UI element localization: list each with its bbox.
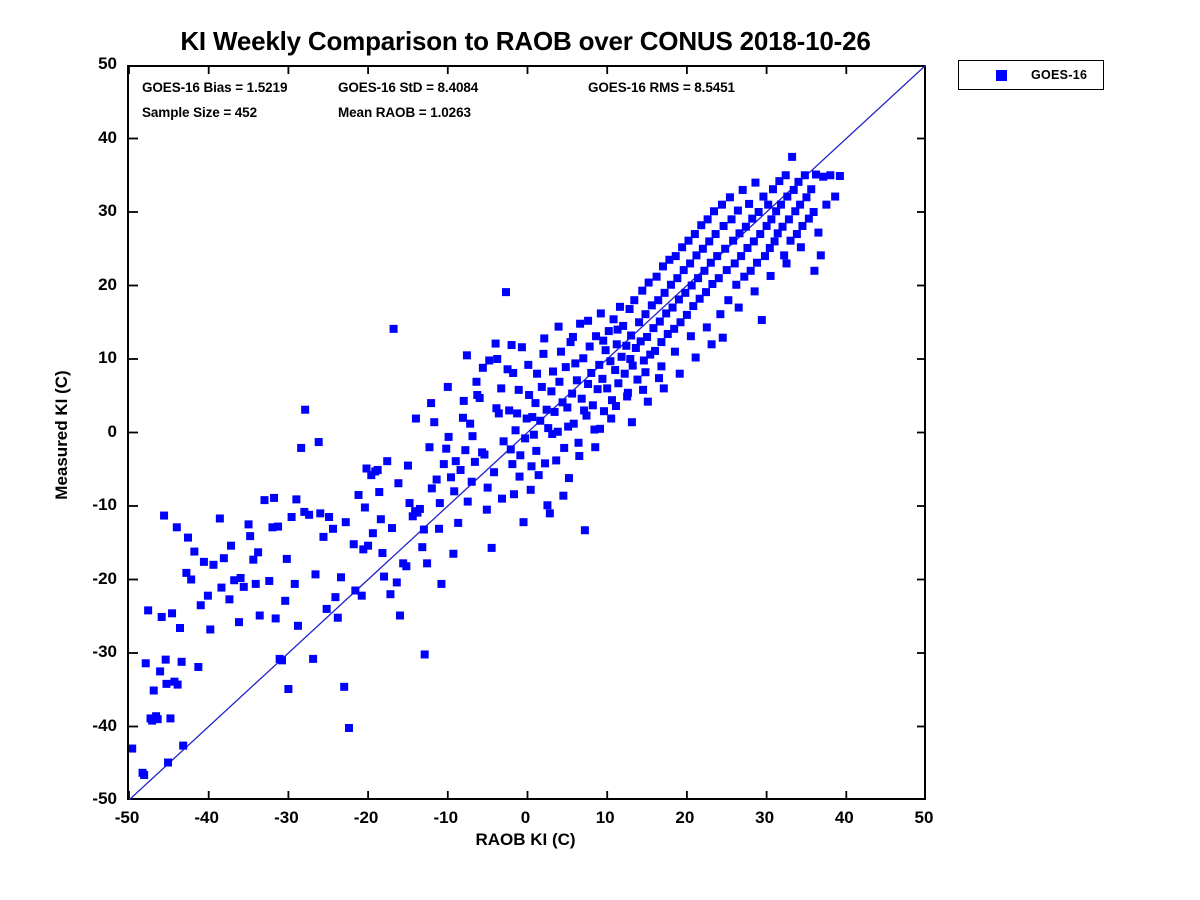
data-point bbox=[810, 208, 818, 216]
data-point bbox=[769, 185, 777, 193]
data-point bbox=[626, 305, 634, 313]
data-point bbox=[337, 573, 345, 581]
data-point bbox=[692, 354, 700, 362]
data-point bbox=[750, 237, 758, 245]
data-point bbox=[643, 333, 651, 341]
data-point bbox=[826, 171, 834, 179]
data-point bbox=[471, 458, 479, 466]
data-point bbox=[783, 259, 791, 267]
data-point bbox=[595, 361, 603, 369]
data-point bbox=[654, 296, 662, 304]
data-point bbox=[351, 587, 359, 595]
scatter-plot-figure: KI Weekly Comparison to RAOB over CONUS … bbox=[0, 0, 1200, 900]
data-point bbox=[412, 415, 420, 423]
data-point bbox=[681, 289, 689, 297]
data-point bbox=[836, 172, 844, 180]
data-point bbox=[393, 578, 401, 586]
data-point bbox=[723, 266, 731, 274]
data-point bbox=[703, 323, 711, 331]
data-point bbox=[509, 369, 517, 377]
data-point bbox=[777, 201, 785, 209]
data-point bbox=[603, 384, 611, 392]
stat-rms: GOES-16 RMS = 8.5451 bbox=[588, 80, 735, 95]
data-point bbox=[425, 443, 433, 451]
data-point bbox=[688, 282, 696, 290]
data-point bbox=[535, 471, 543, 479]
data-point bbox=[633, 376, 641, 384]
data-point bbox=[790, 186, 798, 194]
data-point bbox=[704, 215, 712, 223]
data-point bbox=[798, 222, 806, 230]
data-point bbox=[459, 414, 467, 422]
data-point bbox=[281, 597, 289, 605]
data-point bbox=[513, 409, 521, 417]
data-point bbox=[531, 399, 539, 407]
data-point bbox=[323, 605, 331, 613]
data-point bbox=[630, 296, 638, 304]
data-point bbox=[610, 315, 618, 323]
data-point bbox=[737, 252, 745, 260]
data-point bbox=[720, 222, 728, 230]
data-point bbox=[587, 369, 595, 377]
data-point bbox=[771, 237, 779, 245]
data-point bbox=[726, 193, 734, 201]
data-point bbox=[292, 495, 300, 503]
data-point bbox=[206, 625, 214, 633]
data-point bbox=[246, 532, 254, 540]
data-point bbox=[622, 342, 630, 350]
data-point bbox=[291, 580, 299, 588]
data-point bbox=[635, 318, 643, 326]
data-point bbox=[713, 252, 721, 260]
data-point bbox=[541, 459, 549, 467]
data-point bbox=[284, 685, 292, 693]
data-point bbox=[445, 433, 453, 441]
data-point bbox=[575, 452, 583, 460]
data-point bbox=[237, 574, 245, 582]
data-point bbox=[530, 431, 538, 439]
data-point bbox=[780, 251, 788, 259]
data-point bbox=[731, 259, 739, 267]
data-point bbox=[614, 379, 622, 387]
data-point bbox=[168, 609, 176, 617]
data-point bbox=[150, 686, 158, 694]
data-point bbox=[657, 362, 665, 370]
data-point bbox=[386, 590, 394, 598]
data-point bbox=[599, 337, 607, 345]
data-point bbox=[433, 476, 441, 484]
x-tick-label: 0 bbox=[496, 808, 556, 828]
data-point bbox=[463, 351, 471, 359]
data-point bbox=[657, 338, 665, 346]
data-point bbox=[621, 370, 629, 378]
data-point bbox=[728, 215, 736, 223]
data-point bbox=[793, 230, 801, 238]
data-point bbox=[596, 425, 604, 433]
data-point bbox=[421, 650, 429, 658]
y-axis-title: Measured KI (C) bbox=[52, 335, 72, 535]
data-point bbox=[575, 439, 583, 447]
data-point bbox=[312, 570, 320, 578]
legend-label-goes16: GOES-16 bbox=[1031, 68, 1087, 82]
data-point bbox=[699, 245, 707, 253]
data-point bbox=[516, 473, 524, 481]
data-point bbox=[700, 267, 708, 275]
data-point bbox=[442, 445, 450, 453]
data-point bbox=[661, 289, 669, 297]
data-point bbox=[492, 340, 500, 348]
data-point bbox=[612, 402, 620, 410]
data-point bbox=[568, 390, 576, 398]
data-point bbox=[420, 526, 428, 534]
data-point bbox=[380, 573, 388, 581]
data-point bbox=[450, 487, 458, 495]
data-point bbox=[732, 281, 740, 289]
data-point bbox=[814, 229, 822, 237]
data-point bbox=[375, 488, 383, 496]
data-point bbox=[340, 683, 348, 691]
data-point bbox=[767, 215, 775, 223]
data-point bbox=[350, 540, 358, 548]
data-point bbox=[515, 386, 523, 394]
data-point bbox=[656, 318, 664, 326]
data-point bbox=[488, 544, 496, 552]
x-tick-label: 40 bbox=[814, 808, 874, 828]
data-point bbox=[528, 413, 536, 421]
data-point bbox=[162, 680, 170, 688]
data-point bbox=[525, 391, 533, 399]
data-point bbox=[560, 444, 568, 452]
data-point bbox=[655, 374, 663, 382]
data-point bbox=[607, 415, 615, 423]
data-point bbox=[627, 331, 635, 339]
data-point bbox=[129, 745, 136, 753]
data-point bbox=[764, 201, 772, 209]
data-point bbox=[598, 375, 606, 383]
data-point bbox=[260, 496, 268, 504]
data-point bbox=[586, 343, 594, 351]
data-point bbox=[461, 446, 469, 454]
data-point bbox=[227, 542, 235, 550]
data-point bbox=[508, 341, 516, 349]
data-point bbox=[715, 274, 723, 282]
data-point bbox=[436, 499, 444, 507]
data-point bbox=[197, 601, 205, 609]
data-point bbox=[579, 354, 587, 362]
data-point bbox=[735, 304, 743, 312]
data-point bbox=[691, 230, 699, 238]
data-point bbox=[710, 207, 718, 215]
page-title: KI Weekly Comparison to RAOB over CONUS … bbox=[127, 26, 924, 57]
data-point bbox=[785, 215, 793, 223]
data-point bbox=[745, 200, 753, 208]
data-point bbox=[756, 230, 764, 238]
stat-std: GOES-16 StD = 8.4084 bbox=[338, 80, 478, 95]
data-point bbox=[508, 460, 516, 468]
data-point bbox=[552, 456, 560, 464]
data-point bbox=[719, 334, 727, 342]
data-point bbox=[589, 401, 597, 409]
data-point bbox=[309, 655, 317, 663]
data-point bbox=[472, 378, 480, 386]
data-point bbox=[479, 364, 487, 372]
data-point bbox=[645, 279, 653, 287]
data-point bbox=[404, 462, 412, 470]
data-point bbox=[563, 404, 571, 412]
data-point bbox=[559, 492, 567, 500]
data-point bbox=[270, 494, 278, 502]
data-point bbox=[334, 614, 342, 622]
data-point bbox=[140, 771, 148, 779]
data-point bbox=[485, 356, 493, 364]
y-tick-label: 40 bbox=[61, 128, 117, 148]
data-point bbox=[316, 509, 324, 517]
x-tick-label: 50 bbox=[894, 808, 954, 828]
data-point bbox=[565, 474, 573, 482]
data-point bbox=[686, 259, 694, 267]
data-point bbox=[388, 524, 396, 532]
data-point bbox=[721, 245, 729, 253]
data-point bbox=[300, 508, 308, 516]
data-point bbox=[245, 520, 253, 528]
data-point bbox=[551, 408, 559, 416]
data-point bbox=[505, 406, 513, 414]
data-point bbox=[562, 363, 570, 371]
data-point bbox=[527, 462, 535, 470]
data-point bbox=[142, 659, 150, 667]
data-point bbox=[377, 515, 385, 523]
data-point bbox=[502, 288, 510, 296]
data-point bbox=[512, 426, 520, 434]
data-point bbox=[592, 332, 600, 340]
data-point bbox=[216, 515, 224, 523]
data-point bbox=[174, 681, 182, 689]
data-point bbox=[669, 304, 677, 312]
y-tick-label: 20 bbox=[61, 275, 117, 295]
data-point bbox=[623, 392, 631, 400]
data-point bbox=[677, 318, 685, 326]
data-point bbox=[256, 612, 264, 620]
data-point bbox=[178, 658, 186, 666]
data-point bbox=[325, 513, 333, 521]
data-point bbox=[638, 287, 646, 295]
data-point bbox=[278, 656, 286, 664]
data-point bbox=[154, 715, 162, 723]
data-point bbox=[569, 333, 577, 341]
data-point bbox=[533, 370, 541, 378]
data-point bbox=[536, 417, 544, 425]
data-point bbox=[220, 554, 228, 562]
data-point bbox=[702, 288, 710, 296]
data-point bbox=[160, 512, 168, 520]
data-point bbox=[369, 529, 377, 537]
data-point bbox=[712, 230, 720, 238]
data-point bbox=[329, 525, 337, 533]
data-point bbox=[225, 595, 233, 603]
data-point bbox=[249, 556, 257, 564]
data-point bbox=[402, 562, 410, 570]
data-point bbox=[626, 355, 634, 363]
data-point bbox=[676, 370, 684, 378]
data-point bbox=[758, 316, 766, 324]
y-tick-label: 30 bbox=[61, 201, 117, 221]
data-point bbox=[797, 243, 805, 251]
data-point bbox=[516, 451, 524, 459]
data-point bbox=[653, 273, 661, 281]
data-point bbox=[460, 397, 468, 405]
data-point bbox=[447, 473, 455, 481]
data-point bbox=[527, 486, 535, 494]
data-point bbox=[524, 361, 532, 369]
data-point bbox=[483, 506, 491, 514]
data-point bbox=[812, 171, 820, 179]
data-point bbox=[532, 447, 540, 455]
data-point bbox=[644, 398, 652, 406]
data-point bbox=[272, 614, 280, 622]
data-point bbox=[217, 584, 225, 592]
legend: GOES-16 bbox=[958, 60, 1104, 90]
data-point bbox=[144, 606, 152, 614]
data-point bbox=[495, 409, 503, 417]
data-point bbox=[283, 555, 291, 563]
data-point bbox=[613, 340, 621, 348]
data-point bbox=[594, 385, 602, 393]
data-point bbox=[190, 548, 198, 556]
data-point bbox=[288, 513, 296, 521]
data-point bbox=[361, 503, 369, 511]
y-tick-label: -30 bbox=[61, 642, 117, 662]
data-point bbox=[518, 343, 526, 351]
data-point bbox=[689, 302, 697, 310]
data-point bbox=[521, 434, 529, 442]
data-point bbox=[423, 559, 431, 567]
data-point bbox=[418, 543, 426, 551]
data-point bbox=[796, 201, 804, 209]
x-tick-label: -30 bbox=[256, 808, 316, 828]
data-point bbox=[724, 296, 732, 304]
data-point bbox=[173, 523, 181, 531]
data-point bbox=[547, 387, 555, 395]
data-point bbox=[716, 310, 724, 318]
data-point bbox=[718, 201, 726, 209]
data-point bbox=[742, 223, 750, 231]
data-point bbox=[187, 576, 195, 584]
x-tick-label: -50 bbox=[97, 808, 157, 828]
data-point bbox=[822, 201, 830, 209]
data-point bbox=[584, 317, 592, 325]
data-point bbox=[614, 326, 622, 334]
data-point bbox=[555, 323, 563, 331]
data-point bbox=[581, 526, 589, 534]
data-point bbox=[468, 478, 476, 486]
data-point bbox=[591, 443, 599, 451]
data-point bbox=[204, 592, 212, 600]
data-point bbox=[497, 384, 505, 392]
plot-canvas bbox=[129, 65, 926, 800]
data-point bbox=[444, 383, 452, 391]
data-point bbox=[179, 742, 187, 750]
data-point bbox=[747, 267, 755, 275]
data-point bbox=[546, 509, 554, 517]
data-point bbox=[383, 457, 391, 465]
data-point bbox=[578, 395, 586, 403]
data-point bbox=[484, 484, 492, 492]
data-point bbox=[254, 548, 262, 556]
data-point bbox=[437, 580, 445, 588]
data-point bbox=[162, 656, 170, 664]
data-point bbox=[454, 519, 462, 527]
data-point bbox=[396, 612, 404, 620]
data-point bbox=[158, 613, 166, 621]
data-point bbox=[600, 407, 608, 415]
x-tick-label: -20 bbox=[336, 808, 396, 828]
data-point bbox=[194, 663, 202, 671]
data-point bbox=[782, 171, 790, 179]
data-point bbox=[469, 432, 477, 440]
data-point bbox=[759, 193, 767, 201]
data-point bbox=[831, 193, 839, 201]
data-point bbox=[500, 437, 508, 445]
data-point bbox=[355, 491, 363, 499]
data-point bbox=[428, 484, 436, 492]
data-point bbox=[639, 386, 647, 394]
data-point bbox=[687, 332, 695, 340]
data-point bbox=[557, 348, 565, 356]
data-point bbox=[584, 380, 592, 388]
data-point bbox=[176, 624, 184, 632]
stat-bias: GOES-16 Bias = 1.5219 bbox=[142, 80, 287, 95]
data-point bbox=[573, 376, 581, 384]
data-point bbox=[435, 525, 443, 533]
data-point bbox=[510, 490, 518, 498]
data-point bbox=[548, 430, 556, 438]
data-point bbox=[345, 724, 353, 732]
data-point bbox=[498, 495, 506, 503]
data-point bbox=[755, 208, 763, 216]
y-tick-label: 50 bbox=[61, 54, 117, 74]
data-point bbox=[252, 580, 260, 588]
data-point bbox=[810, 267, 818, 275]
data-point bbox=[166, 714, 174, 722]
data-point bbox=[751, 287, 759, 295]
x-tick-label: 10 bbox=[575, 808, 635, 828]
data-point bbox=[539, 350, 547, 358]
data-point bbox=[779, 223, 787, 231]
x-tick-label: 20 bbox=[655, 808, 715, 828]
data-point bbox=[729, 237, 737, 245]
stat-mean-raob: Mean RAOB = 1.0263 bbox=[338, 105, 471, 120]
data-point bbox=[767, 272, 775, 280]
data-point bbox=[449, 550, 457, 558]
x-tick-label: 30 bbox=[735, 808, 795, 828]
series-goes-16 bbox=[129, 153, 844, 779]
data-point bbox=[480, 451, 488, 459]
data-point bbox=[440, 460, 448, 468]
data-point bbox=[673, 274, 681, 282]
y-tick-label: -40 bbox=[61, 716, 117, 736]
stat-sample-size: Sample Size = 452 bbox=[142, 105, 257, 120]
data-point bbox=[452, 457, 460, 465]
data-point bbox=[753, 259, 761, 267]
data-point bbox=[466, 420, 474, 428]
data-point bbox=[660, 384, 668, 392]
data-point bbox=[788, 153, 796, 161]
data-point bbox=[493, 355, 501, 363]
data-point bbox=[378, 549, 386, 557]
data-point bbox=[671, 348, 679, 356]
data-point bbox=[739, 186, 747, 194]
data-point bbox=[363, 465, 371, 473]
